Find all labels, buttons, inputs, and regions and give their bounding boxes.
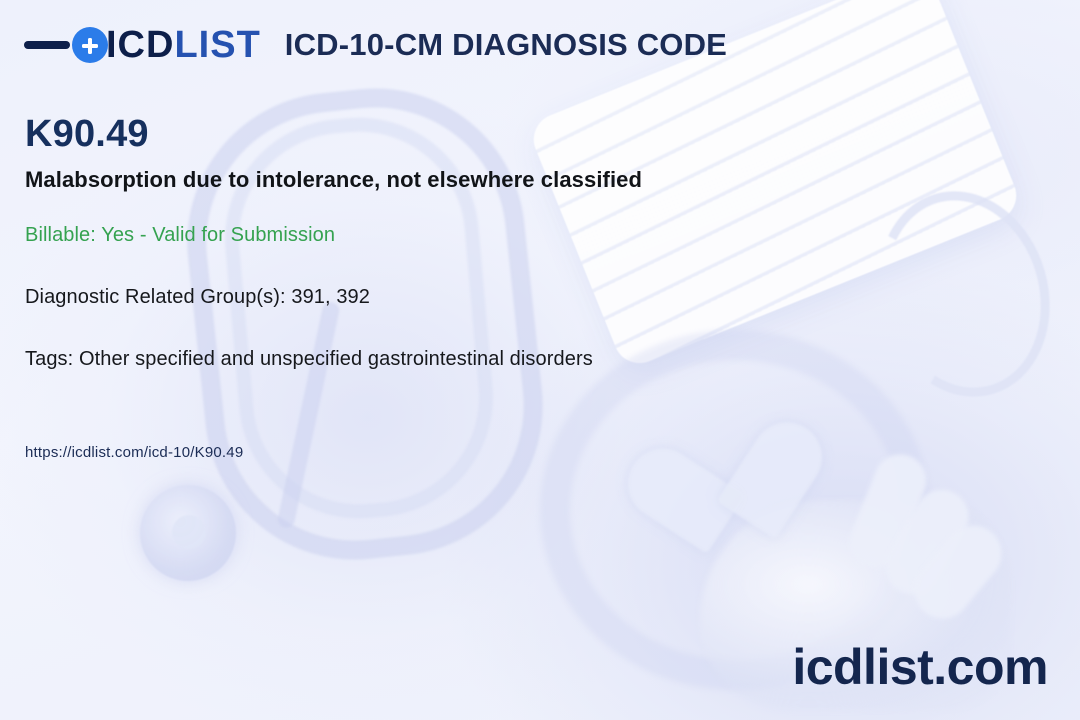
plus-icon [72,27,108,63]
icdlist-logo[interactable]: ICD LIST [24,26,261,64]
stethoscope-chestpiece [140,485,236,581]
logo-text-list: LIST [174,26,260,64]
tags-line: Tags: Other specified and unspecified ga… [25,348,593,371]
hand-finger [842,447,934,576]
dash-icon [24,41,70,49]
stethoscope-tube [276,301,340,530]
stethoscope-ring [540,330,930,690]
diagnosis-description: Malabsorption due to intolerance, not el… [25,167,642,193]
diagnostic-related-groups: Diagnostic Related Group(s): 391, 392 [25,286,370,309]
surgical-mask-earloop [855,171,1074,417]
page-title: ICD-10-CM DIAGNOSIS CODE [285,27,727,63]
hand-finger [876,480,979,604]
source-url[interactable]: https://icdlist.com/icd-10/K90.49 [25,444,243,461]
hand-finger [903,514,1013,630]
billable-status: Billable: Yes - Valid for Submission [25,224,335,247]
infographic-canvas: ICD LIST ICD-10-CM DIAGNOSIS CODE K90.49… [0,0,1080,720]
logo-text-icd: ICD [106,26,174,64]
heart-shape-icon [649,429,791,571]
stethoscope-tubing-loop [172,74,557,575]
footer-brand: icdlist.com [792,642,1048,692]
header: ICD LIST ICD-10-CM DIAGNOSIS CODE [24,26,727,64]
diagnosis-code: K90.49 [25,113,149,156]
